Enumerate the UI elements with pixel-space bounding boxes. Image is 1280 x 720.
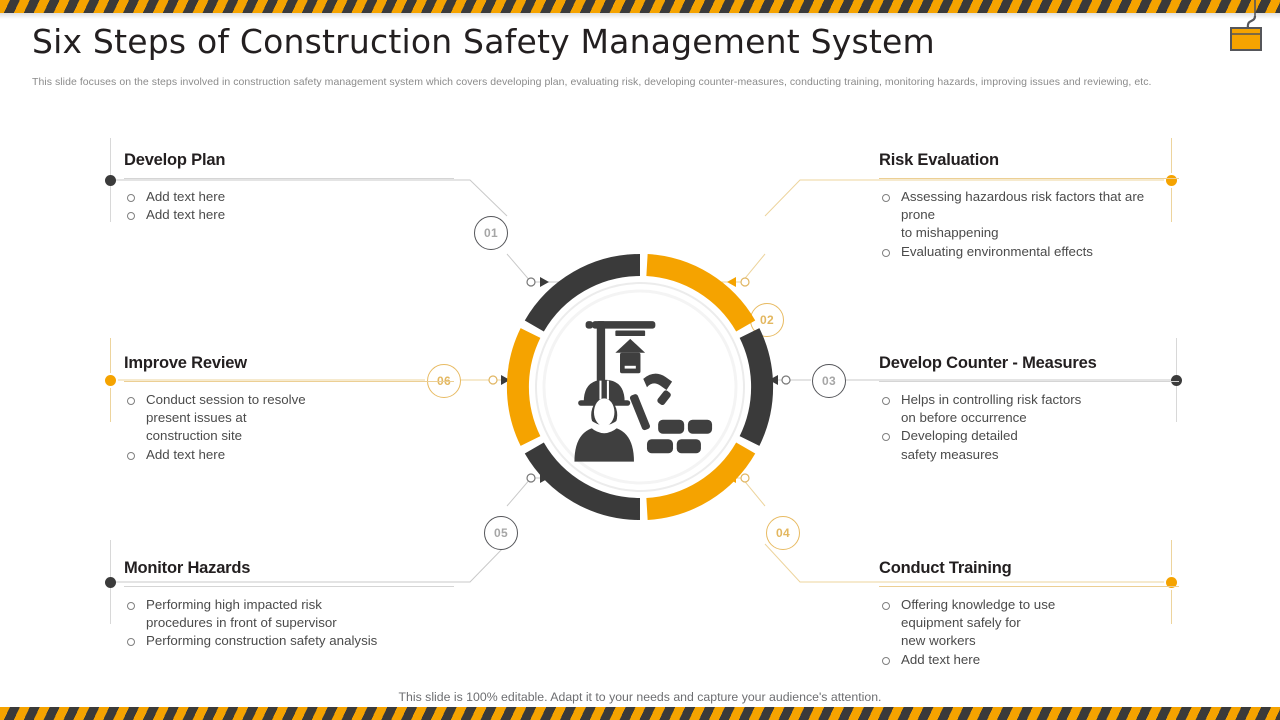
step-badge-05-label: 05 [494, 526, 508, 540]
item-text: Helps in controlling risk factors on bef… [901, 392, 1081, 425]
page-subtitle: This slide focuses on the steps involved… [32, 76, 1152, 88]
item-text: Add text here [901, 652, 980, 667]
six-step-diagram: 01 02 03 04 05 06 [0, 104, 1280, 684]
node-dot-step-01 [105, 175, 116, 186]
item-text: Assessing hazardous risk factors that ar… [901, 189, 1144, 240]
list-item: Performing construction safety analysis [124, 632, 454, 650]
donut-segment-3 [750, 333, 763, 441]
step-rule-04 [879, 586, 1179, 587]
list-item: Performing high impacted risk procedures… [124, 596, 454, 632]
bullet-circle-icon [127, 602, 135, 610]
bullet-circle-icon [882, 602, 890, 610]
list-item: Assessing hazardous risk factors that ar… [879, 188, 1179, 243]
step-rule-03 [879, 381, 1179, 382]
step-items-05: Performing high impacted risk procedures… [124, 596, 454, 651]
bullet-circle-icon [127, 452, 135, 460]
node-dot-step-05 [105, 577, 116, 588]
step-items-03: Helps in controlling risk factors on bef… [879, 391, 1179, 464]
list-item: Add text here [879, 651, 1179, 669]
step-items-02: Assessing hazardous risk factors that ar… [879, 188, 1179, 261]
bullet-circle-icon [882, 433, 890, 441]
item-text: Conduct session to resolve present issue… [146, 392, 306, 443]
step-block-06: Improve Review Conduct session to resolv… [124, 354, 454, 464]
item-text: Evaluating environmental effects [901, 244, 1093, 259]
hazard-stripe-top [0, 0, 1280, 13]
bullet-circle-icon [882, 397, 890, 405]
list-item: Evaluating environmental effects [879, 243, 1179, 261]
item-text: Add text here [146, 189, 225, 204]
step-block-02: Risk Evaluation Assessing hazardous risk… [879, 151, 1179, 261]
donut-chart [505, 252, 775, 522]
list-item: Add text here [124, 206, 454, 224]
step-title-02: Risk Evaluation [879, 151, 1179, 170]
bullet-circle-icon [127, 638, 135, 646]
step-items-06: Conduct session to resolve present issue… [124, 391, 454, 464]
step-title-04: Conduct Training [879, 559, 1179, 578]
list-item: Add text here [124, 446, 454, 464]
list-item: Offering knowledge to use equipment safe… [879, 596, 1179, 651]
step-title-05: Monitor Hazards [124, 559, 454, 578]
step-block-01: Develop Plan Add text here Add text here [124, 151, 454, 224]
step-rule-01 [124, 178, 454, 179]
step-items-04: Offering knowledge to use equipment safe… [879, 596, 1179, 669]
item-text: Performing high impacted risk procedures… [146, 597, 337, 630]
bullet-circle-icon [882, 249, 890, 257]
step-badge-04-label: 04 [776, 526, 790, 540]
list-item: Conduct session to resolve present issue… [124, 391, 454, 446]
list-item: Helps in controlling risk factors on bef… [879, 391, 1179, 427]
footer-note: This slide is 100% editable. Adapt it to… [0, 690, 1280, 704]
page-title: Six Steps of Construction Safety Managem… [32, 22, 935, 61]
bullet-circle-icon [882, 657, 890, 665]
step-rule-06 [124, 381, 454, 382]
step-title-01: Develop Plan [124, 151, 454, 170]
step-block-05: Monitor Hazards Performing high impacted… [124, 559, 454, 651]
item-text: Add text here [146, 447, 225, 462]
bullet-circle-icon [127, 212, 135, 220]
donut-segment-6 [518, 333, 531, 441]
list-item: Add text here [124, 188, 454, 206]
step-title-06: Improve Review [124, 354, 454, 373]
bullet-circle-icon [127, 397, 135, 405]
list-item: Developing detailed safety measures [879, 427, 1179, 463]
item-text: Developing detailed safety measures [901, 428, 1018, 461]
item-text: Performing construction safety analysis [146, 633, 377, 648]
item-text: Add text here [146, 207, 225, 222]
bullet-circle-icon [127, 194, 135, 202]
step-badge-01-label: 01 [484, 226, 498, 240]
step-items-01: Add text here Add text here [124, 188, 454, 224]
step-rule-02 [879, 178, 1179, 179]
crane-hook-icon [1222, 0, 1266, 55]
hazard-stripe-top-shadow [0, 13, 1280, 19]
step-badge-03-label: 03 [822, 374, 836, 388]
hazard-stripe-bottom [0, 707, 1280, 720]
bullet-circle-icon [882, 194, 890, 202]
step-title-03: Develop Counter - Measures [879, 354, 1179, 373]
step-block-03: Develop Counter - Measures Helps in cont… [879, 354, 1179, 464]
slide: Six Steps of Construction Safety Managem… [0, 0, 1280, 720]
step-rule-05 [124, 586, 454, 587]
step-badge-01[interactable]: 01 [474, 216, 508, 250]
step-block-04: Conduct Training Offering knowledge to u… [879, 559, 1179, 669]
step-badge-03[interactable]: 03 [812, 364, 846, 398]
item-text: Offering knowledge to use equipment safe… [901, 597, 1055, 648]
node-dot-step-06 [105, 375, 116, 386]
